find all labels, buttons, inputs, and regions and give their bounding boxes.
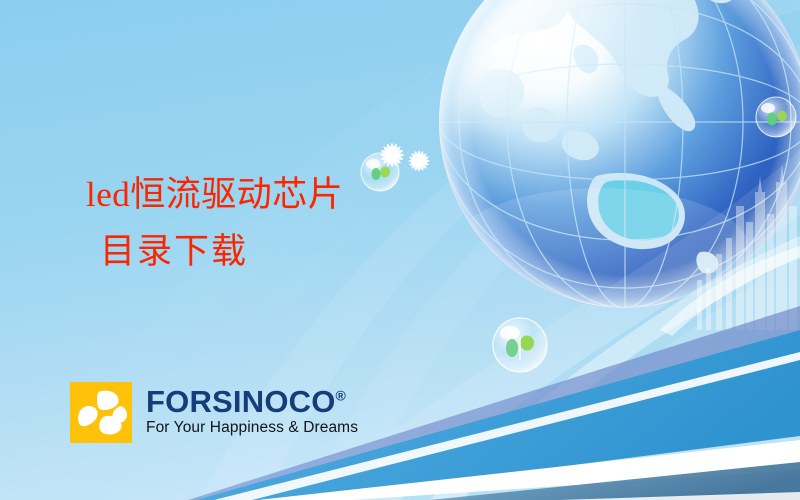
company-logo: FORSINOCO® For Your Happiness & Dreams: [70, 382, 358, 443]
forsinoco-pinwheel-mark-icon: [70, 382, 132, 443]
logo-wordmark-text: FORSINOCO: [146, 384, 336, 419]
banner-canvas: led恒流驱动芯片 目录下载 FORSINOCO® For Your Happi…: [0, 0, 800, 500]
logo-tagline: For Your Happiness & Dreams: [146, 419, 358, 437]
bubble-right: [756, 97, 796, 137]
pinwheel-petals-icon: [70, 382, 132, 443]
sparkle-lower-icon: [409, 151, 430, 172]
registered-trademark-icon: ®: [336, 388, 347, 404]
bubble-center: [493, 318, 547, 372]
logo-wordmark: FORSINOCO®: [146, 386, 358, 417]
logo-text-block: FORSINOCO® For Your Happiness & Dreams: [146, 382, 358, 437]
bubble-left: [361, 153, 399, 191]
